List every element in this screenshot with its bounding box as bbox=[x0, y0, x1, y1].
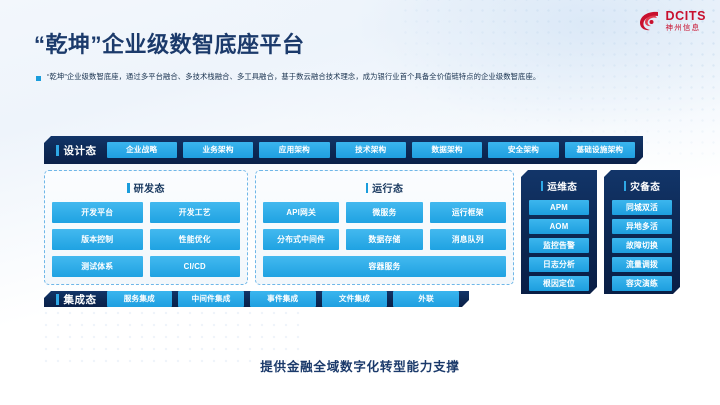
logo-text-cn: 神州信息 bbox=[666, 24, 707, 32]
logo-text-en: DCITS bbox=[666, 10, 707, 23]
design-tier-label-text: 设计态 bbox=[64, 143, 97, 158]
capability-chip[interactable]: AOM bbox=[529, 219, 589, 234]
capability-chip[interactable]: 微服务 bbox=[346, 202, 422, 223]
dev-panel-title-text: 研发态 bbox=[134, 180, 165, 195]
capability-chip[interactable]: 分布式中间件 bbox=[263, 229, 339, 250]
run-panel: 运行态 API网关 微服务 运行框架 分布式中间件 数据存储 消息 bbox=[255, 170, 514, 285]
chip-row: 分布式中间件 数据存储 消息队列 bbox=[263, 229, 506, 250]
accent-tick-icon bbox=[127, 183, 130, 193]
tag-chip[interactable]: 应用架构 bbox=[259, 142, 329, 158]
capability-chip[interactable]: 性能优化 bbox=[150, 229, 241, 250]
tag-chip[interactable]: 服务集成 bbox=[107, 291, 173, 307]
capability-chip[interactable]: 开发平台 bbox=[52, 202, 143, 223]
accent-tick-icon bbox=[56, 294, 59, 305]
capability-chip[interactable]: 消息队列 bbox=[430, 229, 506, 250]
capability-chip[interactable]: 版本控制 bbox=[52, 229, 143, 250]
dr-column-title: 灾备态 bbox=[612, 179, 672, 193]
dev-panel-chips: 开发平台 开发工艺 版本控制 性能优化 测试体系 CI/CD bbox=[52, 202, 240, 277]
chip-row: 测试体系 CI/CD bbox=[52, 256, 240, 277]
chip-row: 开发平台 开发工艺 bbox=[52, 202, 240, 223]
tag-chip[interactable]: 安全架构 bbox=[488, 142, 558, 158]
tag-chip[interactable]: 业务架构 bbox=[183, 142, 253, 158]
capability-chip[interactable]: 异地多活 bbox=[612, 219, 672, 234]
capability-chip[interactable]: 容灾演练 bbox=[612, 276, 672, 291]
capability-chip[interactable]: 监控告警 bbox=[529, 238, 589, 253]
middle-band: 研发态 开发平台 开发工艺 版本控制 性能优化 bbox=[44, 170, 680, 294]
ops-column-title-text: 运维态 bbox=[547, 179, 577, 193]
accent-tick-icon bbox=[541, 181, 544, 191]
chip-row: API网关 微服务 运行框架 bbox=[263, 202, 506, 223]
capability-chip[interactable]: 开发工艺 bbox=[150, 202, 241, 223]
subtitle-text: “乾坤”企业级数智底座，通过多平台融合、多技术栈融合、多工具融合，基于数云融合技… bbox=[47, 72, 540, 82]
capability-chip[interactable]: 根因定位 bbox=[529, 276, 589, 291]
dev-panel-title: 研发态 bbox=[52, 180, 240, 195]
capability-chip[interactable]: 同城双活 bbox=[612, 200, 672, 215]
run-panel-chips: API网关 微服务 运行框架 分布式中间件 数据存储 消息队列 容器服务 bbox=[263, 202, 506, 277]
chip-row: 容器服务 bbox=[263, 256, 506, 277]
accent-tick-icon bbox=[366, 183, 369, 193]
left-panels-stack: 研发态 开发平台 开发工艺 版本控制 性能优化 bbox=[44, 170, 514, 294]
slide-canvas: DCITS 神州信息 “乾坤”企业级数智底座平台 “乾坤”企业级数智底座，通过多… bbox=[0, 0, 720, 405]
accent-tick-icon bbox=[56, 145, 59, 156]
integration-tier-tags: 服务集成 中间件集成 事件集成 文件集成 外联 bbox=[107, 291, 470, 307]
dcits-swirl-logo-icon bbox=[638, 10, 662, 32]
subtitle-row: “乾坤”企业级数智底座，通过多平台融合、多技术栈融合、多工具融合，基于数云融合技… bbox=[36, 72, 540, 82]
run-panel-title-text: 运行态 bbox=[372, 180, 403, 195]
integration-tier-label-text: 集成态 bbox=[64, 292, 97, 307]
tag-chip[interactable]: 基础设施架构 bbox=[565, 142, 635, 158]
capability-chip[interactable]: 测试体系 bbox=[52, 256, 143, 277]
page-title: “乾坤”企业级数智底座平台 bbox=[34, 27, 305, 59]
capability-chip[interactable]: 流量调拨 bbox=[612, 257, 672, 272]
run-panel-title: 运行态 bbox=[263, 180, 506, 195]
capability-chip[interactable]: CI/CD bbox=[150, 256, 241, 277]
tag-chip[interactable]: 外联 bbox=[393, 291, 459, 307]
capability-chip[interactable]: 容器服务 bbox=[263, 256, 506, 277]
capability-chip[interactable]: 日志分析 bbox=[529, 257, 589, 272]
design-tier-tags: 企业战略 业务架构 应用架构 技术架构 数据架构 安全架构 基础设施架构 bbox=[107, 142, 636, 158]
tag-chip[interactable]: 企业战略 bbox=[107, 142, 177, 158]
tag-chip[interactable]: 事件集成 bbox=[250, 291, 316, 307]
footer-tagline: 提供金融全域数字化转型能力支撑 bbox=[0, 356, 720, 375]
dev-panel: 研发态 开发平台 开发工艺 版本控制 性能优化 bbox=[44, 170, 248, 285]
capability-chip[interactable]: 故障切换 bbox=[612, 238, 672, 253]
ops-column: 运维态 APM AOM 监控告警 日志分析 根因定位 bbox=[521, 170, 597, 294]
ops-column-chips: APM AOM 监控告警 日志分析 根因定位 bbox=[529, 200, 589, 291]
disaster-recovery-column: 灾备态 同城双活 异地多活 故障切换 流量调拨 容灾演练 bbox=[604, 170, 680, 294]
chip-row: 版本控制 性能优化 bbox=[52, 229, 240, 250]
tag-chip[interactable]: 技术架构 bbox=[336, 142, 406, 158]
ops-column-title: 运维态 bbox=[529, 179, 589, 193]
dr-column-chips: 同城双活 异地多活 故障切换 流量调拨 容灾演练 bbox=[612, 200, 672, 291]
dr-column-title-text: 灾备态 bbox=[630, 179, 660, 193]
tag-chip[interactable]: 中间件集成 bbox=[178, 291, 244, 307]
design-tier-row: 设计态 企业战略 业务架构 应用架构 技术架构 数据架构 安全架构 基础设施架构 bbox=[44, 136, 643, 164]
brand-logo: DCITS 神州信息 bbox=[638, 10, 707, 32]
design-tier-label: 设计态 bbox=[44, 143, 107, 158]
capability-chip[interactable]: API网关 bbox=[263, 202, 339, 223]
capability-chip[interactable]: 数据存储 bbox=[346, 229, 422, 250]
square-bullet-icon bbox=[36, 76, 41, 81]
capability-chip[interactable]: APM bbox=[529, 200, 589, 215]
architecture-diagram: 设计态 企业战略 业务架构 应用架构 技术架构 数据架构 安全架构 基础设施架构 bbox=[44, 136, 680, 342]
tag-chip[interactable]: 文件集成 bbox=[322, 291, 388, 307]
tag-chip[interactable]: 数据架构 bbox=[412, 142, 482, 158]
integration-tier-row: 集成态 服务集成 中间件集成 事件集成 文件集成 外联 bbox=[44, 291, 469, 307]
capability-chip[interactable]: 运行框架 bbox=[430, 202, 506, 223]
accent-tick-icon bbox=[624, 181, 627, 191]
integration-tier-label: 集成态 bbox=[44, 292, 107, 307]
